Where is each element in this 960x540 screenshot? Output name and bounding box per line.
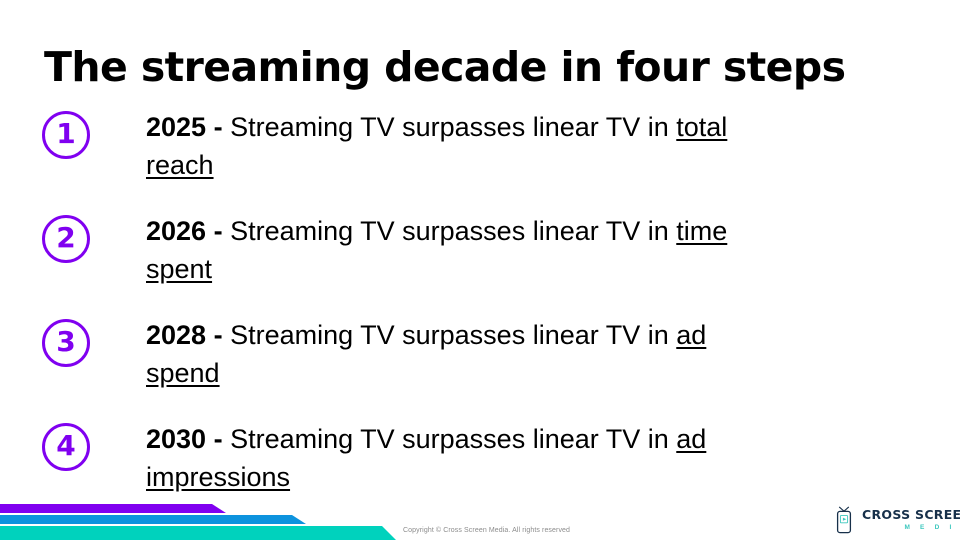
step-number-label: 1 bbox=[56, 120, 75, 148]
step-year-label: 2026 - bbox=[146, 216, 223, 246]
presentation-slide: The streaming decade in four steps 1 202… bbox=[0, 0, 960, 540]
step-text: 2028 - Streaming TV surpasses linear TV … bbox=[146, 316, 786, 392]
logo-name-label: CROSS SCREEN bbox=[862, 509, 960, 522]
step-text: 2026 - Streaming TV surpasses linear TV … bbox=[146, 212, 786, 288]
step-number-label: 4 bbox=[56, 432, 75, 460]
step-number-label: 2 bbox=[56, 224, 75, 252]
step-year-label: 2030 - bbox=[146, 424, 223, 454]
step-number-badge: 4 bbox=[42, 423, 90, 471]
list-item: 3 2028 - Streaming TV surpasses linear T… bbox=[0, 316, 960, 420]
step-body-label: Streaming TV surpasses linear TV in bbox=[223, 216, 677, 246]
teal-stripe bbox=[0, 526, 396, 540]
logo-sub-label: M E D I A bbox=[862, 525, 960, 532]
step-number-badge: 3 bbox=[42, 319, 90, 367]
step-body-label: Streaming TV surpasses linear TV in bbox=[223, 320, 677, 350]
page-title: The streaming decade in four steps bbox=[44, 45, 845, 91]
step-text: 2030 - Streaming TV surpasses linear TV … bbox=[146, 420, 786, 496]
copyright-text: Copyright © Cross Screen Media. All righ… bbox=[403, 527, 570, 534]
step-number-label: 3 bbox=[56, 328, 75, 356]
tv-device-icon bbox=[833, 506, 855, 534]
step-year-label: 2028 - bbox=[146, 320, 223, 350]
step-body-label: Streaming TV surpasses linear TV in bbox=[223, 424, 677, 454]
step-number-badge: 1 bbox=[42, 111, 90, 159]
list-item: 2 2026 - Streaming TV surpasses linear T… bbox=[0, 212, 960, 316]
step-body-label: Streaming TV surpasses linear TV in bbox=[223, 112, 677, 142]
list-item: 1 2025 - Streaming TV surpasses linear T… bbox=[0, 108, 960, 212]
list-item: 4 2030 - Streaming TV surpasses linear T… bbox=[0, 420, 960, 524]
step-number-badge: 2 bbox=[42, 215, 90, 263]
step-year-label: 2025 - bbox=[146, 112, 223, 142]
brand-logo: CROSS SCREEN M E D I A bbox=[833, 506, 960, 534]
steps-list: 1 2025 - Streaming TV surpasses linear T… bbox=[0, 108, 960, 524]
step-text: 2025 - Streaming TV surpasses linear TV … bbox=[146, 108, 786, 184]
logo-wordmark: CROSS SCREEN M E D I A bbox=[862, 509, 960, 531]
